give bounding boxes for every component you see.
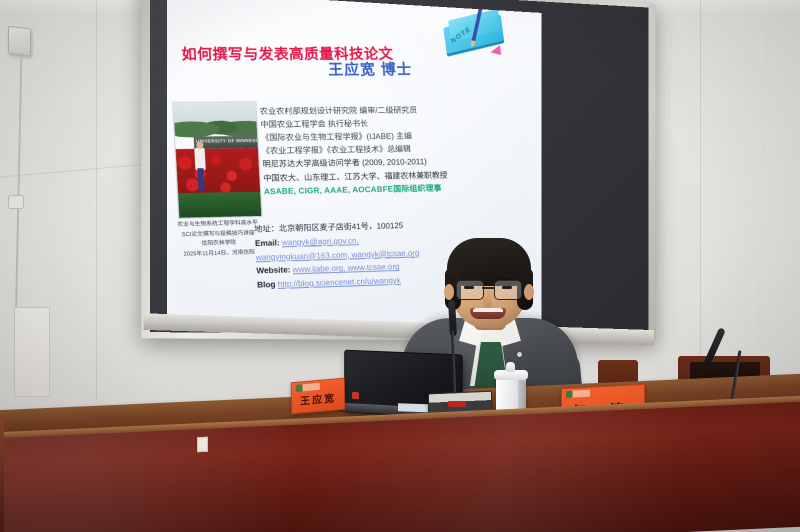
slide-photo: UNIVERSITY OF MINNESOTA (172, 101, 262, 219)
wall-sensor-icon (8, 195, 24, 209)
wall-seam (96, 0, 97, 400)
photo-flower-bed (176, 148, 261, 195)
slide-author: 王应宽 博士 (328, 58, 413, 79)
speaker-ear (444, 284, 454, 300)
desk-side-panel (0, 418, 4, 532)
photo-sign-text: UNIVERSITY OF MINNESOTA (196, 138, 256, 144)
contact-value: www.ijabe.org, www.tcsae.org (292, 262, 399, 274)
contact-value: http://blog.sciencenet.cn/u/wangyk (277, 276, 401, 289)
photo-person-torso (194, 148, 206, 171)
laptop-logo-icon (352, 392, 359, 399)
speaker-nose (483, 294, 492, 308)
photo-person-head (196, 142, 204, 149)
desk-label-tag (197, 437, 208, 452)
speaker-eye (502, 286, 512, 289)
lapel-pin-icon (517, 352, 522, 357)
lecture-photo-scene: 如何撰写与发表高质量科技论文 王应宽 博士 农业农村部规划设计研究院 编审/二级… (0, 0, 800, 532)
wall-access-panel (14, 307, 50, 397)
slide-affiliations: 农业农村部规划设计研究院 编审/二级研究员 中国农业工程学会 执行秘书长 《国际… (259, 103, 537, 198)
photo-person-legs (197, 168, 204, 191)
teacup-knob (506, 362, 515, 372)
glasses-icon (494, 280, 522, 300)
nameplate-left: 王应宽 (291, 378, 346, 415)
nameplate-logo-icon (566, 390, 590, 398)
glasses-icon (456, 280, 484, 300)
speaker-teeth (473, 308, 503, 312)
slide-caption: 农业与生物系统工程学科高水平 SCI论文撰写与投稿技巧讲座 信阳农林学院 202… (170, 219, 267, 260)
contact-label: Blog (257, 280, 276, 290)
speaker-eye (464, 286, 474, 289)
nameplate-left-text: 王应宽 (292, 389, 344, 409)
contact-label: Website: (256, 266, 291, 276)
speaker-ear (524, 284, 534, 300)
glasses-bridge (482, 287, 494, 289)
contact-value: wangyk@agri.gov.cn, (282, 236, 359, 247)
photo-grass (178, 192, 262, 218)
microphone-indicator-icon (448, 401, 466, 407)
